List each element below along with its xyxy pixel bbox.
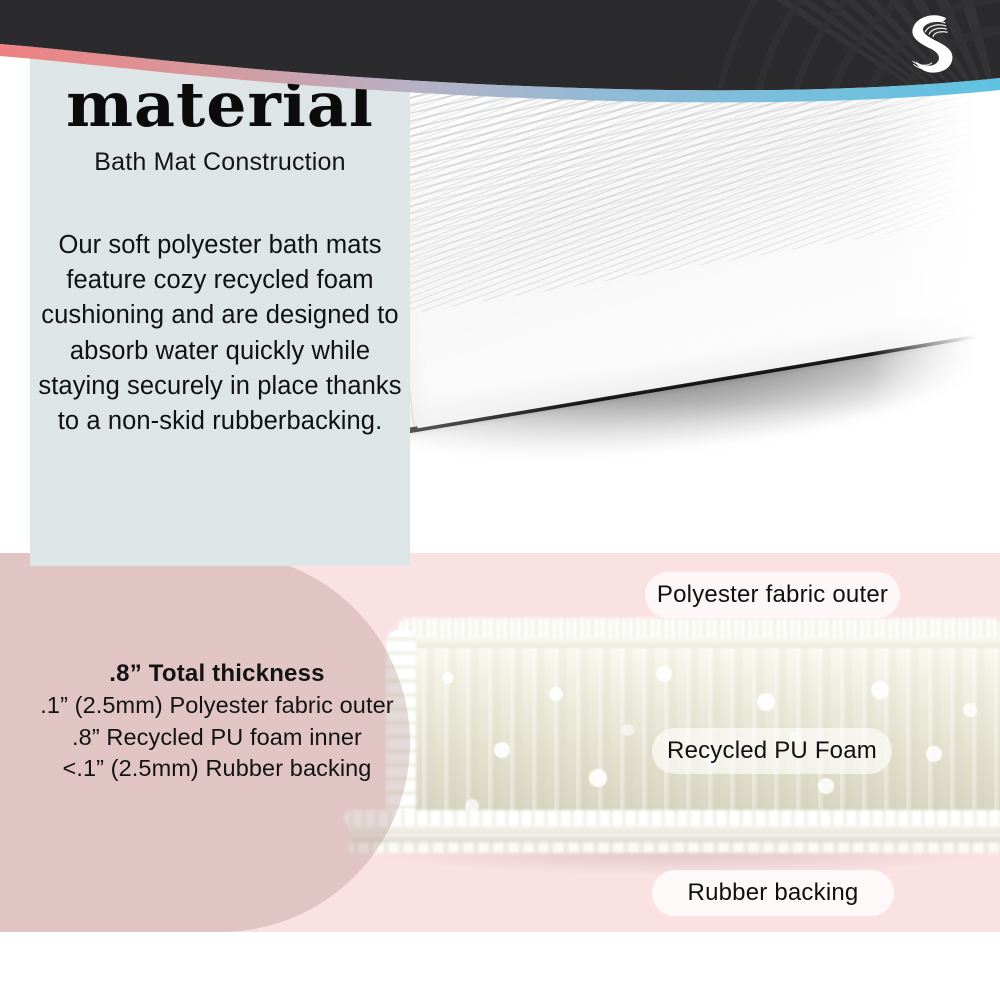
callout-label: Rubber backing <box>688 879 859 907</box>
infographic-canvas: Polyester fabric outer Recycled PU Foam … <box>0 0 1000 1000</box>
foam-rubber-edge-fuzz <box>348 842 1000 853</box>
spec-line-foam: .8” Recycled PU foam inner <box>22 722 412 753</box>
spec-line-rubber: <.1” (2.5mm) Rubber backing <box>22 753 412 784</box>
callout-label: Recycled PU Foam <box>667 737 877 765</box>
foam-bottom-lip-fuzz <box>344 810 1000 826</box>
spec-line-outer: .1” (2.5mm) Polyester fabric outer <box>22 690 412 721</box>
panel-body-copy: Our soft polyester bath mats feature coz… <box>38 228 402 439</box>
page-subtitle: Bath Mat Construction <box>30 148 410 177</box>
spec-text-block: .8” Total thickness .1” (2.5mm) Polyeste… <box>22 658 412 785</box>
foam-top-fuzz <box>398 618 1000 638</box>
header-wave-banner <box>0 0 1000 130</box>
callout-pill-polyester: Polyester fabric outer <box>645 572 900 618</box>
s-swoosh-logo <box>890 5 968 83</box>
callout-pill-rubber: Rubber backing <box>652 870 894 916</box>
callout-label: Polyester fabric outer <box>657 581 888 609</box>
spec-heading: .8” Total thickness <box>22 658 412 690</box>
mat-bottom-fade <box>410 403 1000 553</box>
callout-pill-foam: Recycled PU Foam <box>652 728 892 774</box>
